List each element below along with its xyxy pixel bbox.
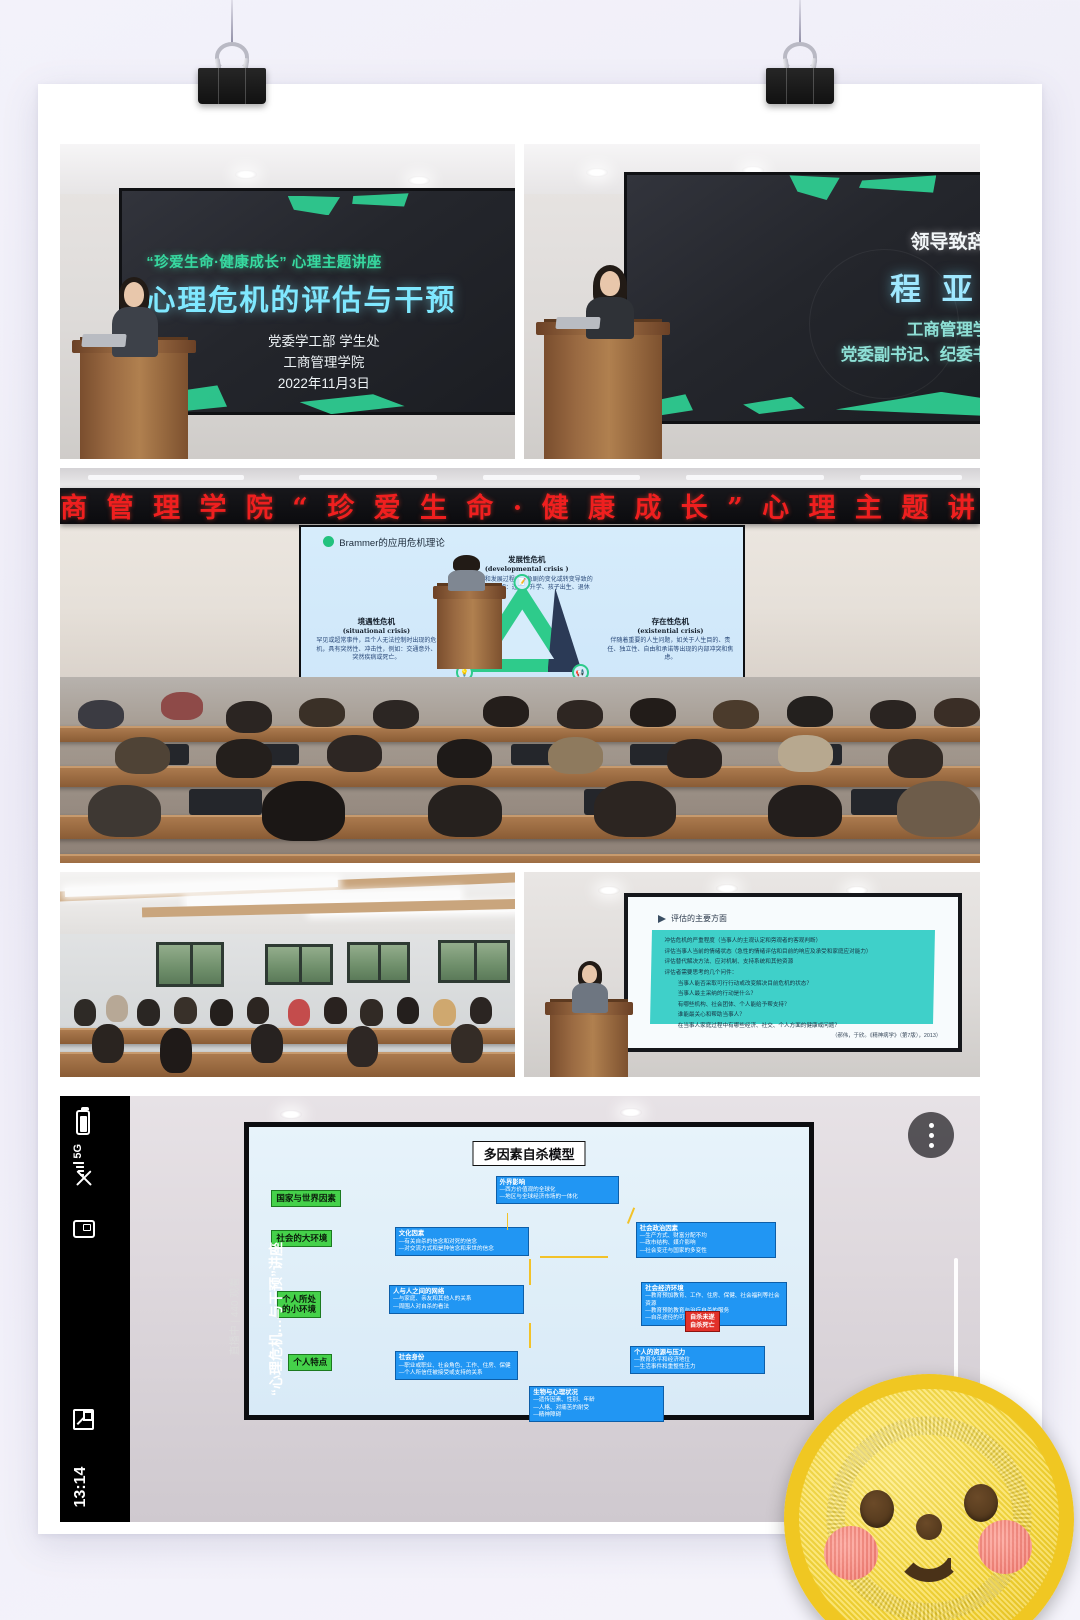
audience-head — [778, 735, 833, 772]
ceiling — [60, 144, 515, 194]
left-eye — [860, 1490, 894, 1528]
crisis-node-situational: 境遇性危机 (situational crisis) 罕见或超常事件，且个人无法… — [314, 617, 438, 662]
speaker-figure — [572, 961, 608, 1009]
node-latin: (situational crisis) — [314, 627, 438, 636]
speaker-body — [112, 307, 158, 357]
binder-clip-left — [196, 0, 268, 104]
slide-bullet: 冲估危机的严重程度（当事人的主观认定和旁观者的客观判断） — [665, 936, 822, 944]
audience-head — [667, 739, 722, 778]
audience-head — [437, 739, 492, 778]
audience-head — [397, 997, 420, 1024]
audience-head — [433, 999, 456, 1026]
network-label: 5G — [72, 1144, 84, 1159]
blue-box-social-identity: 社会身份 —职业或职业、社会角色、工作、住房、保健 —个人所信任被接受或支持的关… — [395, 1351, 518, 1380]
audience-head — [251, 1024, 283, 1063]
slide-citation: （郝伟，于欣。《精神病学》（第7版），2013） — [832, 1031, 941, 1039]
window — [438, 940, 511, 983]
clip-string — [799, 0, 801, 46]
audience-head — [210, 999, 233, 1026]
decor-blob — [789, 175, 839, 200]
speaker-body — [572, 983, 608, 1013]
photo-assessment-slide[interactable]: 评估的主要方面 冲估危机的严重程度（当事人的主观认定和旁观者的客观判断） 评估当… — [524, 872, 980, 1077]
audience-head — [347, 1026, 379, 1067]
clip-block — [766, 68, 834, 104]
speaker-head — [124, 282, 144, 307]
downlight-icon — [280, 1110, 302, 1119]
box-lines: —与家庭、亲友和其他人的关系 —周围人对自杀的看法 — [393, 1296, 471, 1309]
desk-row — [60, 1052, 515, 1077]
sun-rim — [784, 1374, 1074, 1620]
live-title: “心理危机…与干预”讲座 — [266, 1242, 286, 1396]
blue-box-network: 人与人之间的网络 —与家庭、亲友和其他人的关系 —周围人对自杀的看法 — [389, 1285, 523, 1314]
slide-heading-row: 评估的主要方面 — [658, 913, 727, 924]
speaker-head — [600, 271, 620, 296]
window — [347, 942, 411, 983]
green-label-national: 国家与世界因素 — [271, 1190, 341, 1207]
audience-head — [299, 698, 345, 728]
box-title: 社会政治因素 — [640, 1225, 772, 1233]
speaker-body — [448, 570, 485, 591]
slide-sub-bullet: 当事人能否采取可行行动或改变解决目前危机的状态？ — [678, 979, 812, 987]
slide-sub-bullet: 谁能最关心和帮助当事人？ — [678, 1010, 745, 1018]
connector-arrow — [507, 1213, 509, 1230]
projection-screen: 评估的主要方面 冲估危机的严重程度（当事人的主观认定和旁观者的客观判断） 评估当… — [624, 893, 961, 1053]
photo-collage-card: “珍爱生命·健康成长” 心理主题讲座 心理危机的评估与干预 党委学工部 学生处 … — [38, 84, 1042, 1534]
audience-head — [870, 700, 916, 730]
ceiling-strip — [60, 468, 980, 488]
audience-head — [106, 995, 129, 1022]
connector-arrow — [529, 1259, 531, 1285]
photo-row-1: “珍爱生命·健康成长” 心理主题讲座 心理危机的评估与干预 党委学工部 学生处 … — [60, 144, 980, 459]
podium — [437, 583, 501, 670]
audience-head — [470, 997, 493, 1024]
crisis-node-existential: 存在性危机 (existential crisis) 伴随着重要的人生问题，如关… — [606, 617, 734, 662]
node-desc: 伴随着重要的人生问题，如关于人生目的、责任、独立性、自由和承诺等出现的内部冲突和… — [606, 637, 734, 661]
node-latin: (existential crisis) — [606, 627, 734, 636]
decor-blob — [352, 193, 408, 206]
audience-head — [88, 785, 162, 837]
slide-heading-row: Brammer的应用危机理论 — [323, 535, 445, 549]
blue-box-sociopolitical: 社会政治因素 —生产方式、财富分配不均 —政市结构、媒介影响 —社会变迁与国家的… — [636, 1222, 776, 1258]
photo-grid: “珍爱生命·健康成长” 心理主题讲座 心理危机的评估与干预 党委学工部 学生处 … — [60, 144, 980, 1086]
window — [156, 942, 224, 987]
photo-row-2: 工 商 管 理 学 院 “ 珍 爱 生 命 · 健 康 成 长 ” 心 理 主 … — [60, 468, 980, 863]
event-banner: 工 商 管 理 学 院 “ 珍 爱 生 命 · 健 康 成 长 ” 心 理 主 … — [60, 488, 980, 524]
box-lines: —教育水平和经济地位 —生活事件和重整性压力 — [634, 1357, 696, 1370]
box-title: 文化因素 — [399, 1230, 525, 1238]
audience-area — [60, 677, 980, 863]
nose — [916, 1514, 942, 1540]
clip-block — [198, 68, 266, 104]
slide-heading: 评估的主要方面 — [671, 913, 727, 924]
audience-head — [216, 739, 271, 778]
node-title: 存在性危机 — [606, 617, 734, 627]
binder-clip-right — [764, 0, 836, 104]
audience-head — [787, 696, 833, 728]
box-title: 个人的资源与压力 — [634, 1349, 760, 1357]
triangle-node-top-icon: 📝 — [514, 574, 531, 591]
audience-head — [360, 999, 383, 1026]
red-box-suicide-outcome: 自杀未遂 自杀死亡 — [685, 1311, 720, 1333]
decor-blob — [288, 196, 340, 216]
picture-in-picture-icon[interactable] — [73, 1220, 95, 1238]
right-eye — [964, 1484, 998, 1522]
downlight-icon — [586, 168, 608, 177]
audience-head — [161, 692, 202, 720]
node-desc: 罕见或超常事件，且个人无法控制时出现的危机，具有突然性、冲击性，例如：交通意外、… — [314, 637, 438, 661]
blue-box-culture: 文化因素 —有关自杀的信念和对死的信念 —对交流方式和是种信念和来世的信念 — [395, 1227, 529, 1256]
audience-head — [373, 700, 419, 730]
speaker-affiliation: 工商管理学院 党委副书记、纪委书记 — [841, 318, 980, 368]
photo-row-3: 评估的主要方面 冲估危机的严重程度（当事人的主观认定和旁观者的客观判断） 评估当… — [60, 872, 980, 1077]
box-lines: —有关自杀的信念和对死的信念 —对交流方式和是种信念和来世的信念 — [399, 1239, 494, 1252]
audience-head — [888, 739, 943, 778]
box-title: 外界影响 — [500, 1179, 615, 1187]
desk-row — [60, 726, 980, 743]
audience-head — [288, 999, 311, 1026]
audience-head — [713, 700, 759, 730]
affiliation-line-1: 工商管理学院 — [841, 318, 980, 343]
decor-blob — [859, 175, 936, 192]
close-icon[interactable] — [74, 1168, 94, 1188]
desk-row — [60, 1028, 515, 1044]
status-time: 13:14 — [72, 1452, 90, 1522]
audience-head — [262, 781, 345, 840]
green-label-personal: 个人特点 — [288, 1354, 332, 1371]
slide-sub-bullet: 在当事人家庭过程中有哪些经济、社交、个人方面的健康或问题？ — [678, 1021, 840, 1029]
connector-arrow — [627, 1208, 635, 1225]
chair — [189, 789, 263, 815]
audience-head — [137, 999, 160, 1026]
audience-head — [483, 696, 529, 728]
slide-bullet: 评估当事人当前的情绪状态（急性的情绪评估和目前的响应及承受和家庭应对能力） — [665, 947, 872, 955]
slide-sub-bullet: 当事人最主采纳的行动是什么？ — [678, 989, 756, 997]
audience-head — [768, 785, 842, 837]
audience-head — [92, 1024, 124, 1063]
blue-box-bio-psych: 生物与心理状况 —遗传因素、性别、年龄 —人格、对痛苦的耐受 —精神障碍 — [529, 1386, 663, 1422]
slide-title: 心理危机的评估与干预 — [146, 277, 515, 319]
speaker-figure — [448, 555, 485, 591]
slide-title: 多因素自杀模型 — [473, 1141, 586, 1166]
audience-head — [594, 781, 677, 837]
audience-head — [557, 700, 603, 730]
knitted-smiley-sun-sticker — [784, 1374, 1074, 1620]
live-meta: 直播中 | 440 观看 — [226, 1278, 241, 1356]
audience-head — [247, 997, 270, 1024]
audience-head — [630, 698, 676, 728]
photo-classroom-audience[interactable] — [60, 872, 515, 1077]
right-cheek — [978, 1520, 1032, 1574]
audience-head — [934, 698, 980, 728]
audience-head — [115, 737, 170, 774]
downlight-icon — [408, 176, 430, 185]
blue-box-personal-resources: 个人的资源与压力 —教育水平和经济地位 —生活事件和重整性压力 — [630, 1346, 764, 1375]
downlight-icon — [235, 170, 257, 179]
fullscreen-icon[interactable] — [73, 1409, 94, 1430]
player-status-bar: 5G “心理危机…与干预”讲座 直播中 | 440 观看 13:14 — [60, 1096, 130, 1522]
box-lines: —职业或职业、社会角色、工作、住房、保健 —个人所信任被接受或支持的关系 — [399, 1363, 511, 1376]
laptop — [81, 334, 126, 347]
photo-opening-slide[interactable]: “珍爱生命·健康成长” 心理主题讲座 心理危机的评估与干预 党委学工部 学生处 … — [60, 144, 515, 459]
projection-screen: 领导致辞 程 亚 工商管理学院 党委副书记、纪委书记 — [624, 172, 980, 424]
blue-box-external: 外界影响 —西方价值观的全球化 —地区与全球经济市场的一体化 — [496, 1176, 619, 1205]
slide-bullet: 评估替代解决方法、应对机制、支持系统和其他资源 — [665, 957, 794, 965]
audience-head — [226, 701, 272, 733]
slide-bullet: 评估者需要思考的几个问件： — [665, 968, 738, 976]
speaker-head — [582, 965, 597, 983]
podium — [544, 319, 662, 459]
projection-screen: 多因素自杀模型 国家与世界因素 社会的大环境 个人所处 的小环境 个人特点 外界… — [244, 1122, 814, 1420]
slide-heading: Brammer的应用危机理论 — [339, 535, 445, 549]
projection-slide: Brammer的应用危机理论 发展性危机 (developmental cris… — [299, 525, 745, 683]
decor-blob — [743, 397, 805, 414]
slide-sub-bullet: 有哪些机构、社会团体、个人能给予帮支持？ — [678, 1000, 790, 1008]
audience-head — [324, 997, 347, 1024]
audience-head — [160, 1028, 192, 1073]
audience-head — [548, 737, 603, 774]
audience-head — [78, 700, 124, 730]
desk-row — [60, 766, 980, 786]
window — [265, 944, 333, 985]
audience-head — [74, 999, 97, 1026]
box-lines: —生产方式、财富分配不均 —政市结构、媒介影响 —社会变迁与国家的多变性 — [640, 1233, 707, 1254]
audience-head — [428, 785, 502, 837]
left-cheek — [824, 1526, 878, 1580]
box-title: 生物与心理状况 — [533, 1389, 659, 1397]
banner-text: 工 商 管 理 学 院 “ 珍 爱 生 命 · 健 康 成 长 ” 心 理 主 … — [60, 486, 980, 525]
box-lines: —西方价值观的全球化 —地区与全球经济市场的一体化 — [500, 1187, 578, 1200]
node-title: 境遇性危机 — [314, 617, 438, 627]
connector-arrow — [540, 1256, 607, 1258]
photo-auditorium-wide[interactable]: 工 商 管 理 学 院 “ 珍 爱 生 命 · 健 康 成 长 ” 心 理 主 … — [60, 468, 980, 863]
speaker-name: 程 亚 — [890, 264, 979, 309]
clip-string — [231, 0, 233, 46]
downlight-icon — [598, 886, 620, 895]
slide-subtitle: “珍爱生命·健康成长” 心理主题讲座 — [146, 251, 515, 272]
photo-leader-speech[interactable]: 领导致辞 程 亚 工商管理学院 党委副书记、纪委书记 — [524, 144, 980, 459]
audience-head — [327, 735, 382, 772]
audience-head — [174, 997, 197, 1024]
audience-head — [451, 1024, 483, 1063]
connector-arrow — [529, 1323, 531, 1349]
desk-row — [60, 815, 980, 839]
desk-row — [60, 854, 980, 863]
downlight-icon — [620, 1108, 642, 1117]
arrow-bullet-icon — [658, 915, 666, 923]
decor-blob — [836, 392, 980, 417]
affiliation-line-2: 党委副书记、纪委书记 — [841, 343, 980, 368]
laptop — [555, 317, 600, 329]
box-title: 社会身份 — [399, 1354, 514, 1362]
more-options-icon[interactable] — [908, 1112, 954, 1158]
decor-blob — [300, 394, 405, 414]
bullet-dot-icon — [323, 536, 334, 547]
classroom-ceiling — [60, 872, 515, 934]
audience-head — [897, 781, 980, 837]
slide-heading: 领导致辞 — [910, 227, 980, 254]
box-lines: —遗传因素、性别、年龄 —人格、对痛苦的耐受 —精神障碍 — [533, 1397, 595, 1418]
